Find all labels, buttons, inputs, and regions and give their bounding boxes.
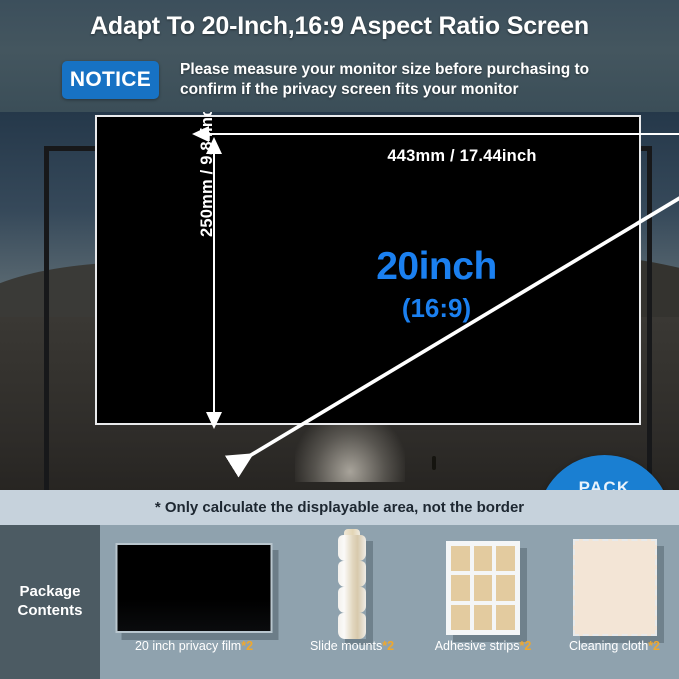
cleaning-cloth-icon	[573, 539, 657, 636]
mount-clip	[338, 587, 366, 613]
package-item-privacy-film: 20 inch privacy film*2	[100, 525, 288, 679]
footnote-strip: * Only calculate the displayable area, n…	[0, 490, 679, 525]
adhesive-cell	[451, 575, 470, 600]
package-item-slide-mounts: Slide mounts*2	[288, 525, 416, 679]
privacy-film-thumbnail	[100, 535, 288, 635]
adhesive-cell	[474, 546, 493, 571]
page-title: Adapt To 20-Inch,16:9 Aspect Ratio Scree…	[0, 12, 679, 41]
aspect-ratio-value: (16:9)	[97, 293, 679, 324]
package-item-label: Adhesive strips*2	[416, 639, 550, 653]
adhesive-strips-icon	[446, 541, 520, 635]
cleaning-cloth-thumbnail	[550, 535, 679, 635]
height-dimension-label: 250mm / 9.84inch	[198, 112, 217, 237]
adhesive-cell	[451, 605, 470, 630]
adhesive-strips-thumbnail	[416, 535, 550, 635]
header-banner: Adapt To 20-Inch,16:9 Aspect Ratio Scree…	[0, 0, 679, 112]
mount-clip	[338, 561, 366, 587]
adhesive-cell	[474, 575, 493, 600]
arrow-down-icon	[206, 412, 222, 429]
pack-badge-label: PACK	[538, 478, 671, 490]
notice-badge: NOTICE	[62, 61, 159, 99]
mount-clip	[338, 535, 366, 561]
package-heading-text: PackageContents	[18, 583, 83, 621]
adhesive-cell	[474, 605, 493, 630]
package-contents-heading: PackageContents	[0, 525, 100, 679]
package-item-adhesive-strips: Adhesive strips*2	[416, 525, 550, 679]
package-items-row: 20 inch privacy film*2 Slide mounts*2	[100, 525, 679, 679]
notice-badge-label: NOTICE	[70, 68, 151, 92]
product-infographic: Adapt To 20-Inch,16:9 Aspect Ratio Scree…	[0, 0, 679, 679]
package-contents-section: PackageContents 20 inch privacy film*2	[0, 525, 679, 679]
monitor-photo-area: 443mm / 17.44inch 250mm / 9.84inch 20inc…	[0, 112, 679, 490]
adhesive-cell	[451, 546, 470, 571]
adhesive-cell	[496, 546, 515, 571]
screen-size-value: 20inch	[97, 245, 679, 289]
width-dimension-label: 443mm / 17.44inch	[297, 147, 627, 166]
package-item-label: Slide mounts*2	[288, 639, 416, 653]
slide-mounts-icon	[338, 535, 366, 639]
mount-clip	[338, 613, 366, 639]
package-item-cleaning-cloth: Cleaning cloth*2	[550, 525, 679, 679]
package-item-label: 20 inch privacy film*2	[100, 639, 288, 653]
package-item-label: Cleaning cloth*2	[550, 639, 679, 653]
adhesive-cell	[496, 605, 515, 630]
footnote-text: * Only calculate the displayable area, n…	[155, 499, 524, 516]
slide-mounts-thumbnail	[288, 535, 416, 635]
notice-message: Please measure your monitor size before …	[180, 60, 640, 100]
privacy-screen-panel: 443mm / 17.44inch 250mm / 9.84inch 20inc…	[95, 115, 641, 425]
privacy-film-icon	[116, 543, 273, 633]
adhesive-cell	[496, 575, 515, 600]
width-dimension-line	[207, 133, 679, 135]
